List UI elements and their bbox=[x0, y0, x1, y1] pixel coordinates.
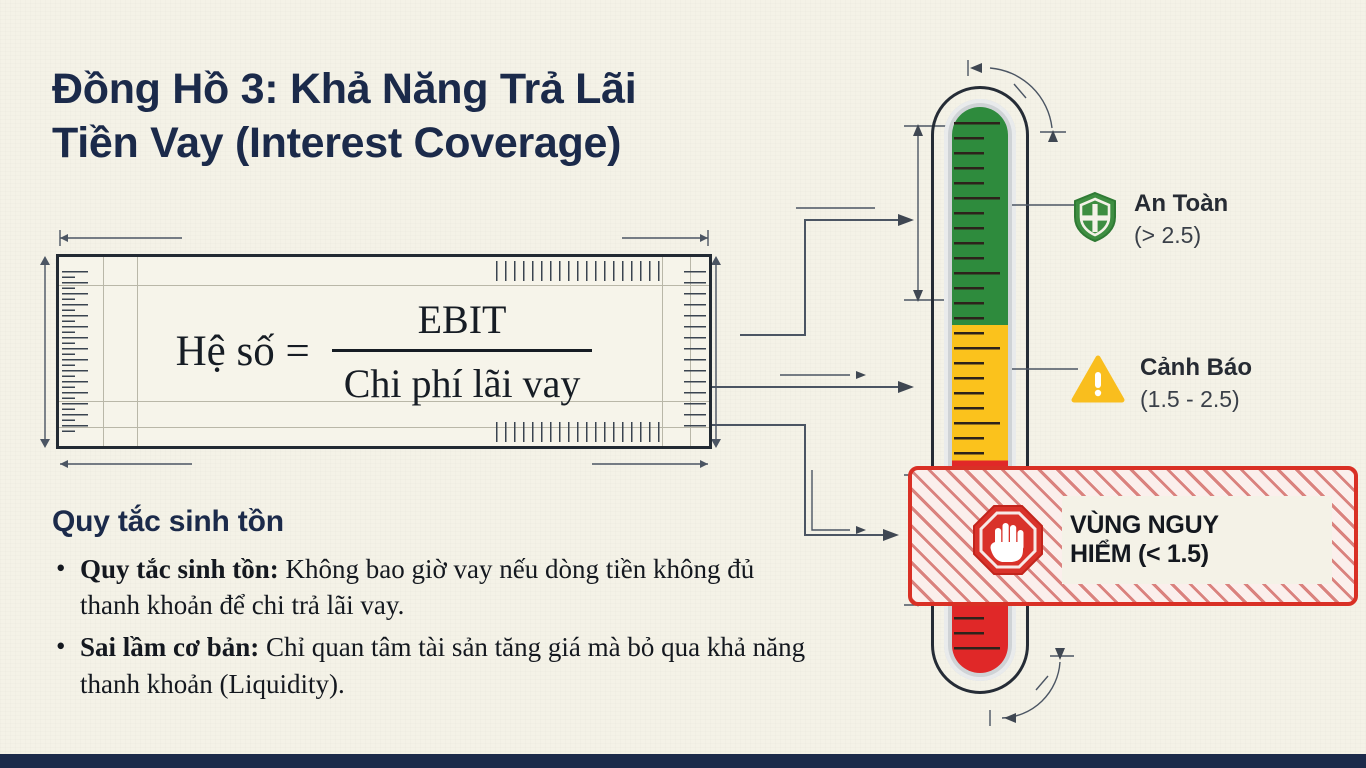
title-line-2: Tiền Vay (Interest Coverage) bbox=[52, 116, 832, 170]
danger-zone-box: VÙNG NGUY HIỂM (< 1.5) bbox=[908, 466, 1358, 606]
formula-expression: Hệ số = EBIT Chi phí lãi vay bbox=[59, 257, 709, 446]
formula-numerator: EBIT bbox=[332, 296, 593, 347]
danger-zone-label: VÙNG NGUY HIỂM (< 1.5) bbox=[1062, 511, 1219, 569]
formula-fraction-bar bbox=[332, 349, 593, 352]
stop-hand-icon bbox=[970, 502, 1046, 578]
formula-denominator: Chi phí lãi vay bbox=[332, 356, 593, 407]
danger-zone-line-1: VÙNG NGUY bbox=[1070, 511, 1219, 540]
rules-heading: Quy tắc sinh tồn bbox=[52, 505, 812, 539]
danger-zone-inner-panel: VÙNG NGUY HIỂM (< 1.5) bbox=[1062, 496, 1332, 584]
legend-safe-label: An Toàn bbox=[1134, 191, 1228, 218]
dimension-left bbox=[32, 250, 58, 455]
legend-item-warning: Cảnh Báo (1.5 - 2.5) bbox=[1072, 355, 1252, 415]
legend-safe-range: (> 2.5) bbox=[1134, 221, 1228, 251]
rules-list: Quy tắc sinh tồn: Không bao giờ vay nếu … bbox=[52, 551, 812, 702]
formula-blueprint: Hệ số = EBIT Chi phí lãi vay bbox=[32, 226, 712, 476]
formula-fraction: EBIT Chi phí lãi vay bbox=[332, 296, 593, 407]
survival-rules-section: Quy tắc sinh tồn Quy tắc sinh tồn: Không… bbox=[52, 505, 812, 708]
list-item: Sai lầm cơ bản: Chỉ quan tâm tài sản tăn… bbox=[52, 629, 812, 701]
list-item: Quy tắc sinh tồn: Không bao giờ vay nếu … bbox=[52, 551, 812, 623]
page-title: Đồng Hồ 3: Khả Năng Trả Lãi Tiền Vay (In… bbox=[52, 62, 832, 170]
legend-safe-text: An Toàn (> 2.5) bbox=[1134, 191, 1228, 251]
rule-lead: Quy tắc sinh tồn: bbox=[80, 554, 279, 584]
bottom-accent-bar bbox=[0, 754, 1366, 768]
rule-lead: Sai lầm cơ bản: bbox=[80, 632, 259, 662]
legend-item-safe: An Toàn (> 2.5) bbox=[1072, 191, 1228, 251]
formula-box: Hệ số = EBIT Chi phí lãi vay bbox=[56, 254, 712, 449]
title-line-1: Đồng Hồ 3: Khả Năng Trả Lãi bbox=[52, 62, 832, 116]
legend-warning-text: Cảnh Báo (1.5 - 2.5) bbox=[1140, 355, 1252, 415]
shield-icon bbox=[1072, 191, 1118, 243]
warning-triangle-icon bbox=[1072, 355, 1124, 403]
dimension-bottom bbox=[32, 452, 722, 478]
legend-warning-label: Cảnh Báo bbox=[1140, 355, 1252, 382]
formula-lhs: Hệ số = bbox=[176, 327, 310, 376]
danger-zone-line-2: HIỂM (< 1.5) bbox=[1070, 540, 1219, 569]
dimension-top bbox=[32, 226, 722, 252]
legend-warning-range: (1.5 - 2.5) bbox=[1140, 385, 1252, 415]
